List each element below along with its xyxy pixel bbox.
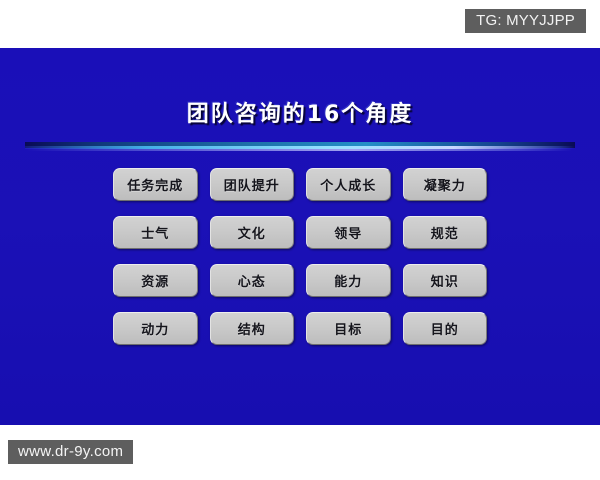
topic-button[interactable]: 目标	[306, 312, 391, 345]
topic-button[interactable]: 资源	[113, 264, 198, 297]
topic-button[interactable]: 个人成长	[306, 168, 391, 201]
topic-button[interactable]: 目的	[403, 312, 488, 345]
topic-button[interactable]: 任务完成	[113, 168, 198, 201]
topic-button[interactable]: 团队提升	[210, 168, 295, 201]
topic-row: 士气 文化 领导 规范	[113, 216, 487, 249]
topic-button[interactable]: 动力	[113, 312, 198, 345]
topic-row: 任务完成 团队提升 个人成长 凝聚力	[113, 168, 487, 201]
top-watermark-band: TG: MYYJJPP	[0, 0, 600, 48]
topic-button[interactable]: 文化	[210, 216, 295, 249]
site-watermark-badge: www.dr-9y.com	[8, 440, 133, 464]
topic-button[interactable]: 结构	[210, 312, 295, 345]
topic-row: 动力 结构 目标 目的	[113, 312, 487, 345]
bottom-watermark-band: www.dr-9y.com	[0, 425, 600, 480]
topic-button[interactable]: 规范	[403, 216, 488, 249]
topic-button[interactable]: 士气	[113, 216, 198, 249]
presentation-slide: 团队咨询的16个角度 任务完成 团队提升 个人成长 凝聚力 士气 文化 领导 规…	[0, 48, 600, 425]
slide-title: 团队咨询的16个角度	[0, 104, 600, 126]
divider-thin-line	[27, 149, 572, 151]
telegram-watermark-badge: TG: MYYJJPP	[465, 9, 586, 33]
topic-button-grid: 任务完成 团队提升 个人成长 凝聚力 士气 文化 领导 规范 资源 心态 能力 …	[113, 168, 487, 345]
topic-button[interactable]: 能力	[306, 264, 391, 297]
topic-button[interactable]: 凝聚力	[403, 168, 488, 201]
topic-button[interactable]: 心态	[210, 264, 295, 297]
topic-row: 资源 心态 能力 知识	[113, 264, 487, 297]
topic-button[interactable]: 领导	[306, 216, 391, 249]
topic-button[interactable]: 知识	[403, 264, 488, 297]
title-divider	[25, 142, 575, 154]
